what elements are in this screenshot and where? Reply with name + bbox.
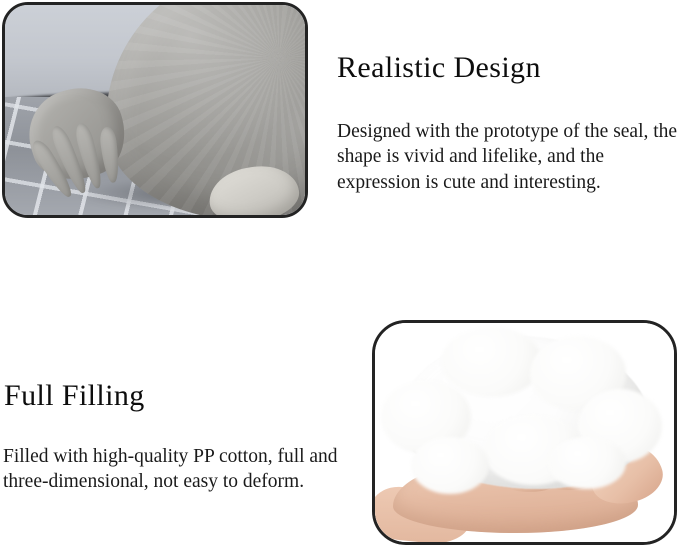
cotton-scene	[375, 323, 674, 542]
pp-cotton-image-card	[372, 320, 677, 545]
realistic-design-heading: Realistic Design	[337, 51, 541, 85]
product-feature-page: Realistic Design Designed with the proto…	[0, 0, 679, 547]
full-filling-body: Filled with high-quality PP cotton, full…	[3, 444, 355, 495]
cotton-puff	[411, 437, 489, 494]
seal-plush-image-card	[2, 2, 308, 218]
seal-scene	[5, 5, 305, 215]
full-filling-heading: Full Filling	[4, 379, 145, 413]
realistic-design-body: Designed with the prototype of the seal,…	[337, 119, 679, 196]
cotton-puff	[548, 437, 626, 490]
